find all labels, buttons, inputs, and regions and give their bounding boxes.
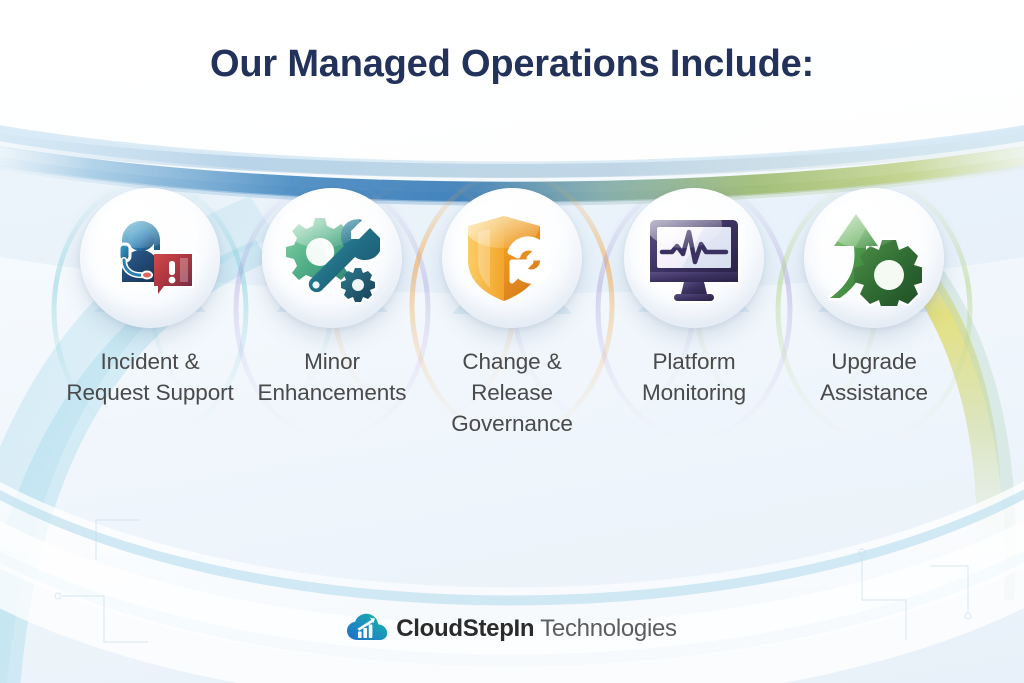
logo-brand-name: CloudStepIn (396, 615, 534, 642)
slide-canvas: Our Managed Operations Include: (0, 0, 1024, 683)
icon-bubble (442, 188, 582, 328)
logo-wordmark: CloudStepIn Technologies (396, 615, 676, 643)
operation-label-line3: Governance (417, 408, 607, 439)
operation-label-line1: Incident & (55, 346, 245, 377)
operation-label: Upgrade Assistance (779, 346, 969, 408)
operation-label-line1: Platform (599, 346, 789, 377)
operation-label-line1: Change & (417, 346, 607, 377)
operation-item-minor-enhancements[interactable]: Minor Enhancements (237, 188, 427, 408)
operation-label-line2: Enhancements (237, 377, 427, 408)
icon-bubble (80, 188, 220, 328)
growth-arrow-gear-icon (826, 210, 922, 306)
footer-logo[interactable]: CloudStepIn Technologies (0, 613, 1024, 645)
logo-brand-suffix: Technologies (534, 615, 676, 642)
operation-item-platform-monitoring[interactable]: Platform Monitoring (599, 188, 789, 408)
operation-label-line1: Minor (237, 346, 427, 377)
monitor-pulse-icon (646, 210, 742, 306)
operation-label: Minor Enhancements (237, 346, 427, 408)
operation-label: Platform Monitoring (599, 346, 789, 408)
operation-label-line2: Release (417, 377, 607, 408)
icon-bubble (262, 188, 402, 328)
operation-item-upgrade-assistance[interactable]: Upgrade Assistance (779, 188, 969, 408)
icon-bubble (804, 188, 944, 328)
shield-sync-icon (464, 210, 560, 306)
operation-label: Change & Release Governance (417, 346, 607, 439)
operation-item-change-release-governance[interactable]: Change & Release Governance (417, 188, 607, 439)
cloud-chart-logo-icon (347, 613, 389, 645)
operation-item-incident-request-support[interactable]: Incident & Request Support (55, 188, 245, 408)
gear-wrench-icon (284, 210, 380, 306)
page-title: Our Managed Operations Include: (0, 43, 1024, 86)
operation-label-line2: Monitoring (599, 377, 789, 408)
operation-label-line2: Assistance (779, 377, 969, 408)
operation-label: Incident & Request Support (55, 346, 245, 408)
operation-label-line1: Upgrade (779, 346, 969, 377)
operations-list: Incident & Request Support (0, 188, 1024, 468)
support-headset-alert-icon (102, 210, 198, 306)
icon-bubble (624, 188, 764, 328)
operation-label-line2: Request Support (55, 377, 245, 408)
